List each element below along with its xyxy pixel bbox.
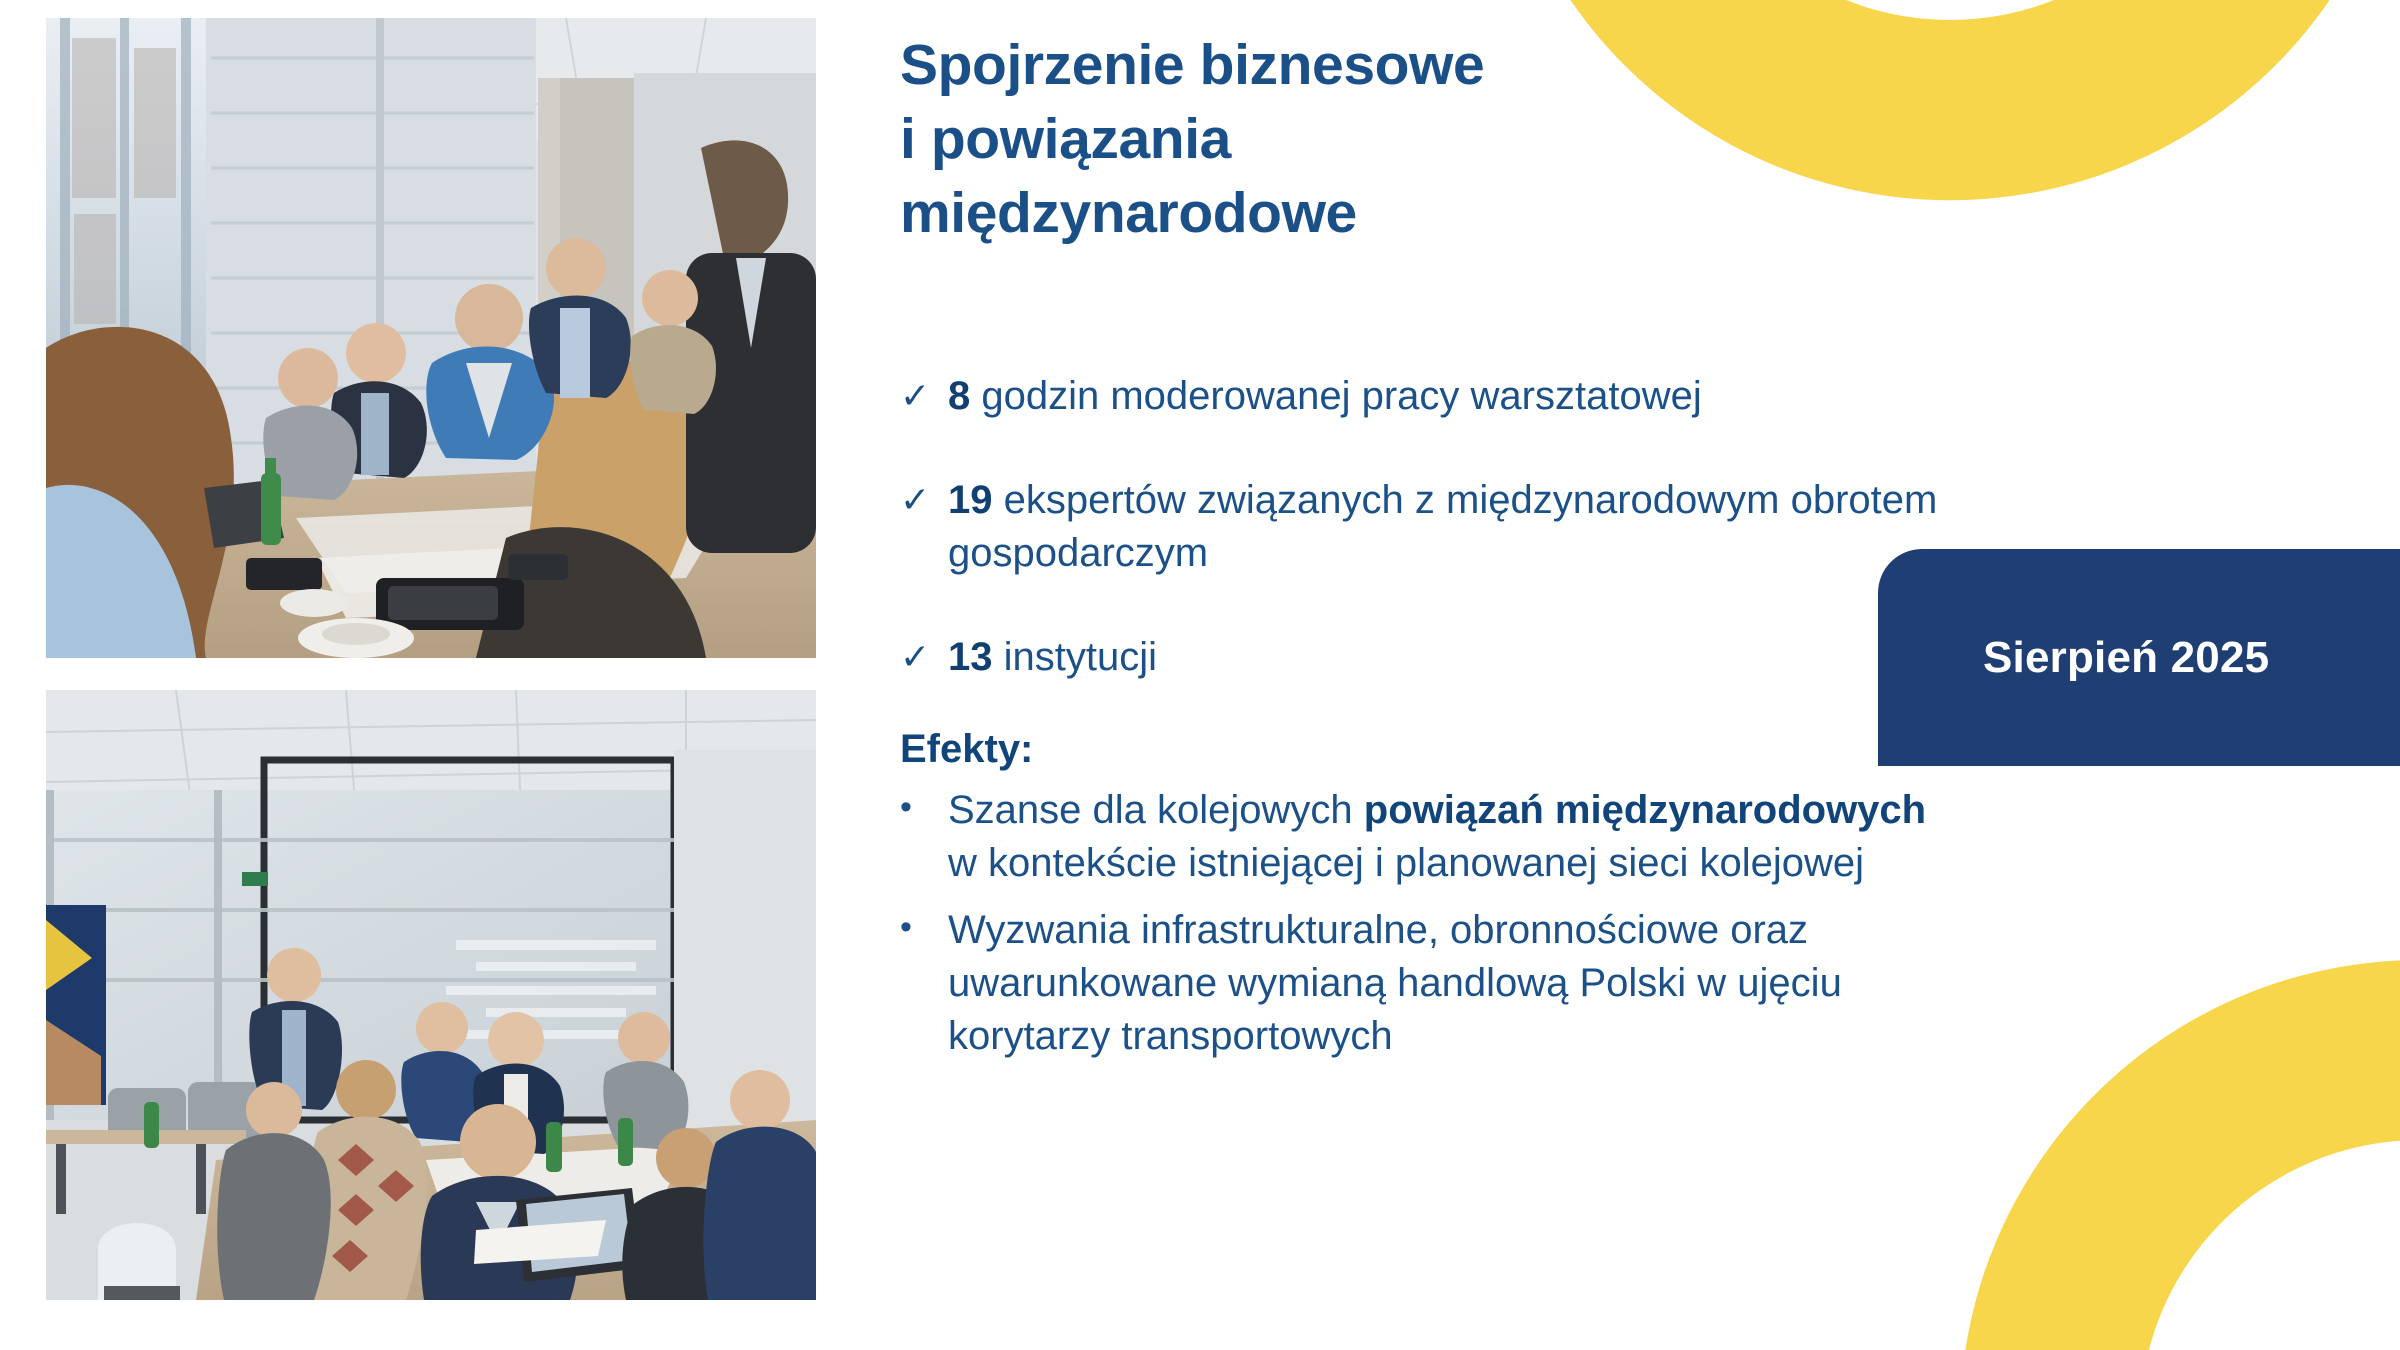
list-item: • Wyzwania infrastrukturalne, obronności… [900, 904, 1960, 1064]
efekt-text: Wyzwania infrastrukturalne, obronnościow… [948, 904, 1948, 1064]
yellow-arc-bottom-right [1960, 960, 2400, 1350]
list-item: ✓ 8 godzin moderowanej pracy warsztatowe… [900, 370, 1960, 424]
stat-number: 13 [948, 635, 993, 679]
stat-label: godzin moderowanej pracy warsztatowej [970, 374, 1701, 418]
list-item: • Szanse dla kolejowych powiązań międzyn… [900, 784, 1960, 890]
date-badge-label: Sierpień 2025 [1878, 633, 2269, 683]
workshop-meeting-room-photo [46, 690, 816, 1300]
page-title: Spojrzenie biznesowe i powiązania między… [900, 28, 1960, 250]
stats-list: ✓ 8 godzin moderowanej pracy warsztatowe… [900, 370, 1960, 684]
workshop-meeting-table-photo [46, 18, 816, 658]
content-column: Spojrzenie biznesowe i powiązania między… [900, 28, 1960, 1078]
bullet-dot-icon: • [900, 784, 948, 830]
list-item: ✓ 13 instytucji [900, 631, 1960, 685]
list-item: ✓ 19 ekspertów związanych z międzynarodo… [900, 474, 1960, 581]
stat-text: 8 godzin moderowanej pracy warsztatowej [948, 370, 1702, 424]
presentation-slide: Spojrzenie biznesowe i powiązania między… [0, 0, 2400, 1350]
check-icon: ✓ [900, 631, 948, 681]
efekty-list: • Szanse dla kolejowych powiązań międzyn… [900, 784, 1960, 1064]
stat-number: 8 [948, 374, 970, 418]
check-icon: ✓ [900, 370, 948, 420]
stat-text: 19 ekspertów związanych z międzynarodowy… [948, 474, 1960, 581]
stat-label: ekspertów związanych z międzynarodowym o… [948, 478, 1937, 576]
check-icon: ✓ [900, 474, 948, 524]
stat-number: 19 [948, 478, 993, 522]
efekt-text: Szanse dla kolejowych powiązań międzynar… [948, 784, 1948, 890]
efekt-text-part: w kontekście istniejącej i planowanej si… [948, 841, 1864, 885]
efekt-text-part: Szanse dla kolejowych [948, 788, 1364, 832]
stat-label: instytucji [993, 635, 1158, 679]
efekt-text-part-bold: powiązań międzynarodowych [1364, 788, 1926, 832]
date-badge: Sierpień 2025 [1878, 549, 2400, 766]
stat-text: 13 instytucji [948, 631, 1157, 685]
efekty-heading: Efekty: [900, 727, 1960, 772]
bullet-dot-icon: • [900, 904, 948, 950]
